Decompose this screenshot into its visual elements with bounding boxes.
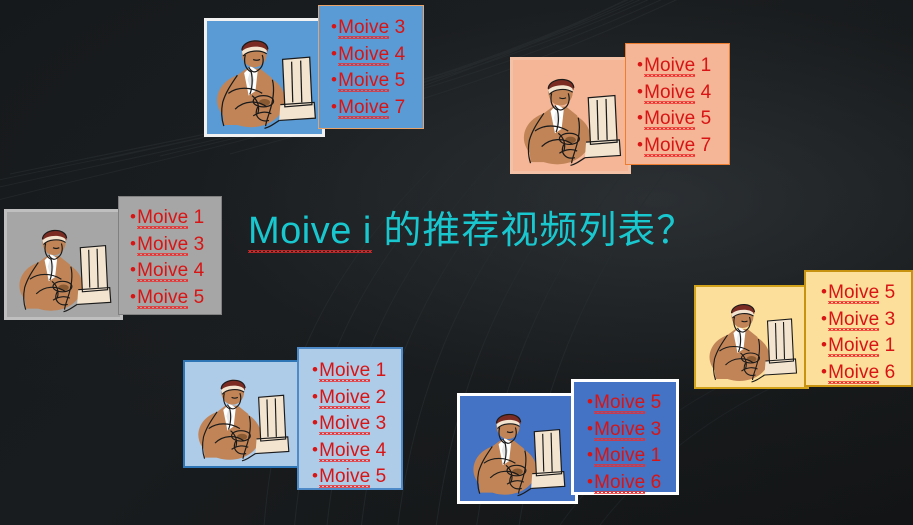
- list-item[interactable]: •Moive 1: [821, 332, 911, 359]
- item-word: Moive: [319, 466, 370, 488]
- group-top-right: •Moive 1 •Moive 4 •Moive 5 •Moive 7: [510, 57, 730, 170]
- item-number: 3: [879, 309, 895, 330]
- item-number: 4: [188, 260, 204, 281]
- item-word: Moive: [137, 234, 188, 256]
- bullet-icon: •: [821, 362, 827, 381]
- bullet-icon: •: [331, 44, 337, 63]
- item-number: 1: [188, 207, 204, 228]
- group-bottom-center: •Moive 5 •Moive 3 •Moive 1 •Moive 6: [457, 393, 679, 498]
- moive-list: •Moive 1 •Moive 3 •Moive 4 •Moive 5: [130, 204, 221, 310]
- list-item[interactable]: •Moive 4: [331, 41, 423, 68]
- moive-list: •Moive 5 •Moive 3 •Moive 1 •Moive 6: [821, 279, 911, 385]
- list-item[interactable]: •Moive 4: [637, 79, 729, 106]
- bullet-icon: •: [312, 360, 318, 379]
- item-number: 5: [645, 392, 661, 413]
- list-box-top-right: •Moive 1 •Moive 4 •Moive 5 •Moive 7: [625, 43, 730, 165]
- item-word: Moive: [828, 309, 879, 331]
- list-box-top-left: •Moive 3 •Moive 4 •Moive 5 •Moive 7: [318, 5, 424, 129]
- list-item[interactable]: •Moive 5: [130, 284, 221, 311]
- item-word: Moive: [594, 392, 645, 414]
- item-word: Moive: [594, 472, 645, 494]
- list-box-middle-left: •Moive 1 •Moive 3 •Moive 4 •Moive 5: [118, 196, 222, 315]
- bullet-icon: •: [130, 207, 136, 226]
- list-item[interactable]: •Moive 5: [821, 279, 911, 306]
- item-word: Moive: [319, 440, 370, 462]
- title-han: 的推荐视频列表？: [372, 210, 696, 252]
- list-item[interactable]: •Moive 6: [821, 359, 911, 386]
- bullet-icon: •: [821, 335, 827, 354]
- clipart-person-at-computer: [4, 209, 123, 320]
- item-number: 4: [370, 440, 386, 461]
- item-word: Moive: [137, 287, 188, 309]
- item-number: 2: [370, 387, 386, 408]
- item-word: Moive: [338, 97, 389, 119]
- list-item[interactable]: •Moive 3: [331, 14, 423, 41]
- item-number: 7: [695, 135, 711, 156]
- list-box-bottom-left: •Moive 1 •Moive 2 •Moive 3 •Moive 4 •Moi…: [297, 347, 403, 490]
- item-number: 1: [879, 335, 895, 356]
- item-word: Moive: [338, 17, 389, 39]
- moive-list: •Moive 1 •Moive 2 •Moive 3 •Moive 4 •Moi…: [312, 357, 401, 490]
- item-word: Moive: [319, 360, 370, 382]
- bullet-icon: •: [312, 387, 318, 406]
- list-item[interactable]: •Moive 1: [312, 357, 401, 384]
- item-number: 5: [879, 282, 895, 303]
- item-word: Moive: [338, 44, 389, 66]
- item-number: 5: [389, 70, 405, 91]
- item-number: 3: [370, 413, 386, 434]
- group-middle-right: •Moive 5 •Moive 3 •Moive 1 •Moive 6: [694, 285, 913, 386]
- clipart-person-at-computer: [204, 18, 325, 137]
- item-number: 4: [389, 44, 405, 65]
- list-item[interactable]: •Moive 4: [312, 437, 401, 464]
- item-word: Moive: [137, 260, 188, 282]
- clipart-person-at-computer: [183, 360, 301, 468]
- list-item[interactable]: •Moive 5: [637, 105, 729, 132]
- clipart-person-at-computer: [510, 57, 631, 174]
- item-word: Moive: [319, 387, 370, 409]
- item-word: Moive: [644, 55, 695, 77]
- bullet-icon: •: [312, 466, 318, 485]
- item-number: 7: [389, 97, 405, 118]
- moive-list: •Moive 1 •Moive 4 •Moive 5 •Moive 7: [637, 52, 729, 158]
- list-item[interactable]: •Moive 2: [312, 384, 401, 411]
- bullet-icon: •: [637, 82, 643, 101]
- bullet-icon: •: [821, 282, 827, 301]
- item-number: 4: [695, 82, 711, 103]
- list-item[interactable]: •Moive 5: [331, 67, 423, 94]
- clipart-person-at-computer: [457, 393, 578, 504]
- bullet-icon: •: [130, 234, 136, 253]
- list-item[interactable]: •Moive 3: [312, 410, 401, 437]
- moive-list: •Moive 3 •Moive 4 •Moive 5 •Moive 7: [331, 14, 423, 120]
- list-item[interactable]: •Moive 5: [312, 463, 401, 490]
- bullet-icon: •: [331, 97, 337, 116]
- item-number: 1: [695, 55, 711, 76]
- item-number: 3: [188, 234, 204, 255]
- item-word: Moive: [828, 335, 879, 357]
- page-title: Moive i 的推荐视频列表？: [248, 208, 695, 254]
- list-box-bottom-center: •Moive 5 •Moive 3 •Moive 1 •Moive 6: [571, 379, 679, 495]
- bullet-icon: •: [331, 17, 337, 36]
- list-item[interactable]: •Moive 3: [821, 306, 911, 333]
- item-number: 5: [188, 287, 204, 308]
- group-bottom-left: •Moive 1 •Moive 2 •Moive 3 •Moive 4 •Moi…: [183, 360, 403, 490]
- list-item[interactable]: •Moive 1: [587, 442, 676, 469]
- item-number: 5: [370, 466, 386, 487]
- item-word: Moive: [594, 419, 645, 441]
- list-item[interactable]: •Moive 3: [587, 416, 676, 443]
- item-word: Moive: [137, 207, 188, 229]
- bullet-icon: •: [130, 287, 136, 306]
- item-number: 6: [645, 472, 661, 493]
- bullet-icon: •: [312, 413, 318, 432]
- bullet-icon: •: [587, 419, 593, 438]
- clipart-person-at-computer: [694, 285, 809, 389]
- item-number: 3: [645, 419, 661, 440]
- bullet-icon: •: [821, 309, 827, 328]
- list-item[interactable]: •Moive 1: [637, 52, 729, 79]
- item-word: Moive: [828, 362, 879, 384]
- list-item[interactable]: •Moive 4: [130, 257, 221, 284]
- item-number: 6: [879, 362, 895, 383]
- group-top-left: •Moive 3 •Moive 4 •Moive 5 •Moive 7: [204, 18, 424, 133]
- item-number: 3: [389, 17, 405, 38]
- group-middle-left: •Moive 1 •Moive 3 •Moive 4 •Moive 5: [4, 209, 222, 317]
- item-word: Moive: [644, 135, 695, 157]
- list-item[interactable]: •Moive 6: [587, 469, 676, 496]
- list-item[interactable]: •Moive 1: [130, 204, 221, 231]
- item-word: Moive: [338, 70, 389, 92]
- item-word: Moive: [594, 445, 645, 467]
- list-box-middle-right: •Moive 5 •Moive 3 •Moive 1 •Moive 6: [804, 270, 913, 387]
- list-item[interactable]: •Moive 3: [130, 231, 221, 258]
- bullet-icon: •: [637, 108, 643, 127]
- list-item[interactable]: •Moive 7: [637, 132, 729, 159]
- bullet-icon: •: [331, 70, 337, 89]
- item-word: Moive: [644, 82, 695, 104]
- bullet-icon: •: [637, 135, 643, 154]
- bullet-icon: •: [587, 445, 593, 464]
- bullet-icon: •: [637, 55, 643, 74]
- item-number: 5: [695, 108, 711, 129]
- bullet-icon: •: [587, 472, 593, 491]
- item-word: Moive: [828, 282, 879, 304]
- bullet-icon: •: [312, 440, 318, 459]
- item-word: Moive: [644, 108, 695, 130]
- bullet-icon: •: [130, 260, 136, 279]
- list-item[interactable]: •Moive 5: [587, 389, 676, 416]
- bullet-icon: •: [587, 392, 593, 411]
- list-item[interactable]: •Moive 7: [331, 94, 423, 121]
- moive-list: •Moive 5 •Moive 3 •Moive 1 •Moive 6: [587, 389, 676, 495]
- item-word: Moive: [319, 413, 370, 435]
- item-number: 1: [645, 445, 661, 466]
- title-latin: Moive i: [248, 210, 372, 253]
- item-number: 1: [370, 360, 386, 381]
- slide-canvas: •Moive 3 •Moive 4 •Moive 5 •Moive 7: [0, 0, 913, 525]
